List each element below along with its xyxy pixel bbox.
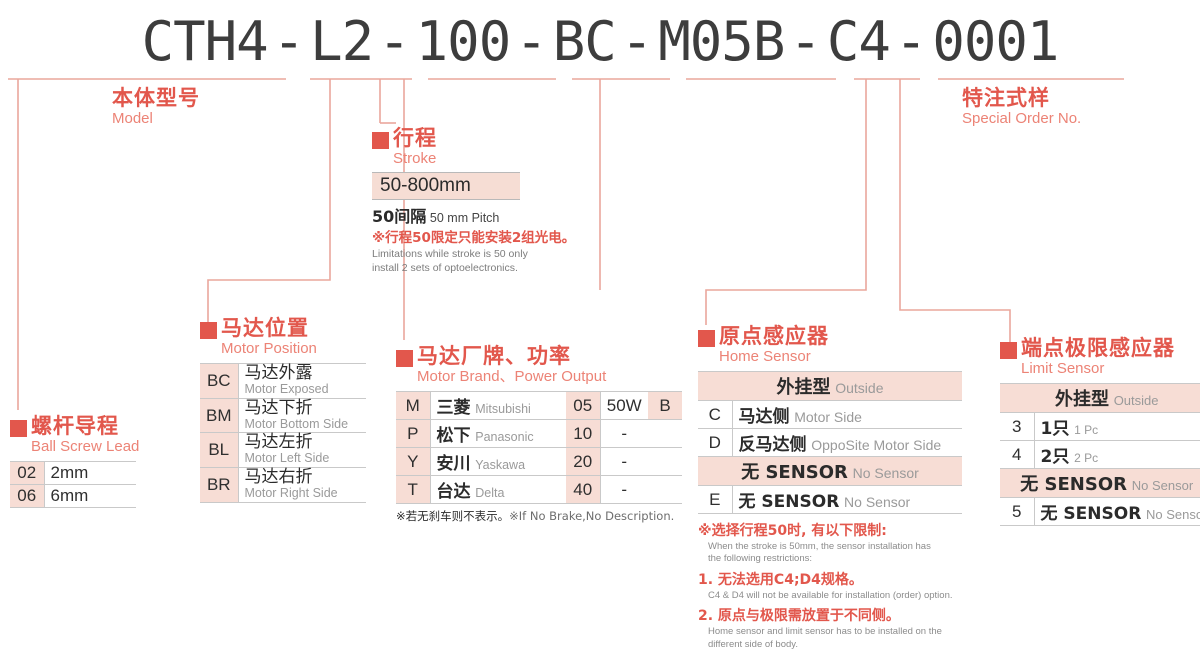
table-row[interactable]: 02 2mm (10, 462, 136, 485)
restriction-item-2-en-2: different side of body. (708, 639, 998, 651)
bullet-square-icon (10, 420, 27, 437)
limit-sensor-cn: 2只 (1041, 447, 1070, 467)
brake-code: B (648, 392, 682, 420)
home-sensor-cn: 马达侧 (739, 407, 790, 427)
brand-cn: 三菱 (437, 398, 471, 418)
motor-position-code: BR (200, 467, 238, 502)
bullet-square-icon (396, 350, 413, 367)
limit-sensor-title-en: Limit Sensor (1021, 360, 1175, 378)
motor-position-desc: 马达右折 Motor Right Side (238, 467, 366, 502)
motor-position-code: BC (200, 364, 238, 399)
block-motor-brand: 马达厂牌、功率 Motor Brand、Power Output M 三菱 Mi… (396, 344, 682, 524)
table-row[interactable]: E 无 SENSOR No Sensor (698, 486, 962, 514)
bullet-square-icon (200, 322, 217, 339)
home-sensor-title-cn: 原点感应器 (719, 324, 829, 348)
power-code: 10 (566, 420, 600, 448)
code-segment-motor-brand: M05B (658, 10, 784, 73)
power-value: - (600, 476, 648, 504)
brand-code: T (396, 476, 430, 504)
code-separator: - (373, 10, 416, 73)
code-segment-model: CTH4 (142, 10, 268, 73)
table-group-header: 无 SENSOR No Sensor (1000, 469, 1200, 498)
home-sensor-code: C (698, 401, 732, 429)
power-code: 05 (566, 392, 600, 420)
table-row[interactable]: Y 安川 Yaskawa 20 - (396, 448, 682, 476)
limit-sensor-en: No Sensor (1146, 507, 1200, 522)
brand-cn: 安川 (437, 454, 471, 474)
brand-name: 松下 Panasonic (430, 420, 566, 448)
home-sensor-cn: 无 SENSOR (739, 492, 840, 512)
brand-cn: 台达 (437, 482, 471, 502)
block-special-order: 特注式样 Special Order No. (962, 86, 1081, 128)
code-separator: - (510, 10, 553, 73)
brand-en: Panasonic (475, 430, 533, 444)
table-group-header: 外挂型 Outside (698, 372, 962, 401)
group-nosensor-cn: 无 SENSOR (1020, 474, 1127, 495)
home-sensor-group-nosensor: 无 SENSOR No Sensor (698, 457, 962, 486)
motor-position-cn: 马达右折 (245, 469, 361, 487)
stroke-range-value: 50-800mm (372, 172, 520, 200)
table-row[interactable]: D 反马达侧 OppoSite Motor Side (698, 429, 962, 457)
stroke-pitch: 50间隔 50 mm Pitch (372, 203, 575, 227)
lead-value: 6mm (44, 485, 136, 508)
code-separator: - (616, 10, 659, 73)
group-nosensor-en: No Sensor (853, 465, 919, 481)
special-order-title-cn: 特注式样 (962, 86, 1081, 110)
code-segment-lead: L2 (310, 10, 373, 73)
stroke-title-en: Stroke (393, 150, 437, 168)
brand-code: Y (396, 448, 430, 476)
table-row[interactable]: BC 马达外露 Motor Exposed (200, 364, 366, 399)
model-title-cn: 本体型号 (112, 86, 200, 110)
home-sensor-title-en: Home Sensor (719, 348, 829, 366)
limit-sensor-cn: 1只 (1041, 419, 1070, 439)
table-group-header: 外挂型 Outside (1000, 384, 1200, 413)
brake-code (648, 476, 682, 504)
code-separator: - (890, 10, 933, 73)
motor-position-desc: 马达左折 Motor Left Side (238, 433, 366, 468)
brand-cn: 松下 (437, 426, 471, 446)
restriction-title-cn: ※选择行程50时, 有以下限制: (698, 520, 998, 540)
group-outside-cn: 外挂型 (1055, 389, 1109, 410)
stroke-note-cn: ※行程50限定只能安装2组光电。 (372, 230, 575, 247)
code-segment-special-order: 0001 (932, 10, 1058, 73)
restriction-item-2-cn: 2. 原点与极限需放置于不同侧。 (698, 605, 998, 625)
limit-sensor-desc: 1只 1 Pc (1034, 413, 1200, 441)
limit-sensor-table: 外挂型 Outside 3 1只 1 Pc 4 2只 2 Pc 无 SENSOR… (1000, 383, 1200, 526)
bullet-square-icon (1000, 342, 1017, 359)
table-row[interactable]: 4 2只 2 Pc (1000, 441, 1200, 469)
table-row[interactable]: BL 马达左折 Motor Left Side (200, 433, 366, 468)
block-motor-position: 马达位置 Motor Position BC 马达外露 Motor Expose… (200, 316, 366, 503)
block-home-sensor: 原点感应器 Home Sensor 外挂型 Outside C 马达侧 Moto… (698, 324, 998, 654)
home-sensor-code: D (698, 429, 732, 457)
motor-position-desc: 马达外露 Motor Exposed (238, 364, 366, 399)
limit-sensor-desc: 2只 2 Pc (1034, 441, 1200, 469)
product-code-line: CTH4 - L2 - 100 - BC - M05B - C4 - 0001 (0, 8, 1200, 74)
home-sensor-en: Motor Side (794, 409, 862, 425)
stroke-note-en-1: Limitations while stroke is 50 only (372, 248, 575, 261)
limit-sensor-group-outside: 外挂型 Outside (1000, 384, 1200, 413)
home-sensor-desc: 马达侧 Motor Side (732, 401, 962, 429)
motor-brand-title-en: Motor Brand、Power Output (417, 368, 606, 386)
motor-position-cn: 马达左折 (245, 434, 361, 452)
motor-position-code: BM (200, 398, 238, 433)
power-value: - (600, 420, 648, 448)
brand-en: Delta (475, 486, 504, 500)
block-limit-sensor: 端点极限感应器 Limit Sensor 外挂型 Outside 3 1只 1 … (1000, 336, 1200, 526)
bullet-square-icon (372, 132, 389, 149)
stroke-note-en-2: install 2 sets of optoelectronics. (372, 262, 575, 275)
limit-sensor-code: 3 (1000, 413, 1034, 441)
motor-position-en: Motor Right Side (245, 487, 361, 501)
home-sensor-table: 外挂型 Outside C 马达侧 Motor Side D 反马达侧 Oppo… (698, 371, 962, 514)
limit-sensor-cn: 无 SENSOR (1041, 504, 1142, 524)
brand-name: 三菱 Mitsubishi (430, 392, 566, 420)
power-code: 20 (566, 448, 600, 476)
motor-position-title-en: Motor Position (221, 340, 317, 358)
restriction-title-en-2: the following restrictions: (708, 553, 998, 565)
group-nosensor-en: No Sensor (1132, 478, 1193, 493)
brand-code: M (396, 392, 430, 420)
limit-sensor-en: 1 Pc (1074, 423, 1098, 437)
code-segment-motor-position: BC (553, 10, 616, 73)
stroke-pitch-en: 50 mm Pitch (430, 211, 499, 225)
code-separator: - (268, 10, 311, 73)
brake-code (648, 448, 682, 476)
ball-screw-lead-table: 02 2mm 06 6mm (10, 461, 136, 508)
table-group-header: 无 SENSOR No Sensor (698, 457, 962, 486)
code-separator: - (784, 10, 827, 73)
power-value: - (600, 448, 648, 476)
home-sensor-group-outside: 外挂型 Outside (698, 372, 962, 401)
table-row[interactable]: BM 马达下折 Motor Bottom Side (200, 398, 366, 433)
home-sensor-desc: 反马达侧 OppoSite Motor Side (732, 429, 962, 457)
code-segment-stroke: 100 (416, 10, 511, 73)
lead-code: 06 (10, 485, 44, 508)
ball-screw-lead-title-cn: 螺杆导程 (31, 414, 139, 438)
table-row[interactable]: C 马达侧 Motor Side (698, 401, 962, 429)
restriction-item-1-en: C4 & D4 will not be available for instal… (708, 590, 998, 602)
block-ball-screw-lead: 螺杆导程 Ball Screw Lead 02 2mm 06 6mm (10, 414, 139, 508)
code-segment-home-sensor: C4 (827, 10, 890, 73)
limit-sensor-code: 4 (1000, 441, 1034, 469)
stroke-title-cn: 行程 (393, 126, 437, 150)
brand-code: P (396, 420, 430, 448)
home-sensor-desc: 无 SENSOR No Sensor (732, 486, 962, 514)
power-code: 40 (566, 476, 600, 504)
restriction-item-2-en-1: Home sensor and limit sensor has to be i… (708, 626, 998, 638)
ball-screw-lead-title-en: Ball Screw Lead (31, 438, 139, 456)
motor-brand-title-cn: 马达厂牌、功率 (417, 344, 606, 368)
limit-sensor-group-nosensor: 无 SENSOR No Sensor (1000, 469, 1200, 498)
motor-position-en: Motor Bottom Side (245, 418, 361, 432)
motor-position-cn: 马达外露 (245, 365, 361, 383)
brand-en: Mitsubishi (475, 402, 531, 416)
limit-sensor-title-cn: 端点极限感应器 (1021, 336, 1175, 360)
special-order-title-en: Special Order No. (962, 110, 1081, 128)
lead-value: 2mm (44, 462, 136, 485)
table-row[interactable]: 5 无 SENSOR No Sensor (1000, 498, 1200, 526)
group-outside-en: Outside (1114, 393, 1159, 408)
lead-code: 02 (10, 462, 44, 485)
limit-sensor-desc: 无 SENSOR No Sensor (1034, 498, 1200, 526)
motor-position-en: Motor Exposed (245, 383, 361, 397)
table-row[interactable]: 06 6mm (10, 485, 136, 508)
limit-sensor-en: 2 Pc (1074, 451, 1098, 465)
restriction-title-en-1: When the stroke is 50mm, the sensor inst… (708, 541, 998, 553)
motor-position-table: BC 马达外露 Motor Exposed BM 马达下折 Motor Bott… (200, 363, 366, 502)
home-sensor-code: E (698, 486, 732, 514)
motor-brand-footnote-cn: ※若无刹车则不表示。 (396, 509, 509, 523)
motor-position-cn: 马达下折 (245, 400, 361, 418)
limit-sensor-code: 5 (1000, 498, 1034, 526)
group-outside-en: Outside (835, 380, 883, 396)
home-sensor-en: No Sensor (844, 494, 910, 510)
home-sensor-restrictions: ※选择行程50时, 有以下限制: When the stroke is 50mm… (698, 520, 998, 651)
brake-code (648, 420, 682, 448)
table-row[interactable]: BR 马达右折 Motor Right Side (200, 467, 366, 502)
table-row[interactable]: T 台达 Delta 40 - (396, 476, 682, 504)
group-outside-cn: 外挂型 (777, 377, 831, 398)
stroke-pitch-cn: 50间隔 (372, 207, 426, 226)
motor-position-desc: 马达下折 Motor Bottom Side (238, 398, 366, 433)
restriction-item-1-cn: 1. 无法选用C4;D4规格。 (698, 569, 998, 589)
block-stroke: 行程 Stroke 50-800mm 50间隔 50 mm Pitch ※行程5… (372, 126, 575, 275)
block-model: 本体型号 Model (112, 86, 200, 128)
motor-brand-table: M 三菱 Mitsubishi 05 50W B P 松下 Panasonic … (396, 391, 682, 504)
motor-brand-footnote-en: ※If No Brake,No Description. (509, 509, 674, 523)
group-nosensor-cn: 无 SENSOR (741, 462, 848, 483)
motor-position-code: BL (200, 433, 238, 468)
table-row[interactable]: 3 1只 1 Pc (1000, 413, 1200, 441)
power-value: 50W (600, 392, 648, 420)
home-sensor-en: OppoSite Motor Side (811, 437, 941, 453)
motor-position-title-cn: 马达位置 (221, 316, 317, 340)
table-row[interactable]: M 三菱 Mitsubishi 05 50W B (396, 392, 682, 420)
brand-name: 台达 Delta (430, 476, 566, 504)
bullet-square-icon (698, 330, 715, 347)
motor-brand-footnote: ※若无刹车则不表示。※If No Brake,No Description. (396, 508, 682, 524)
home-sensor-cn: 反马达侧 (739, 435, 807, 455)
brand-en: Yaskawa (475, 458, 525, 472)
brand-name: 安川 Yaskawa (430, 448, 566, 476)
table-row[interactable]: P 松下 Panasonic 10 - (396, 420, 682, 448)
model-title-en: Model (112, 110, 200, 128)
motor-position-en: Motor Left Side (245, 452, 361, 466)
